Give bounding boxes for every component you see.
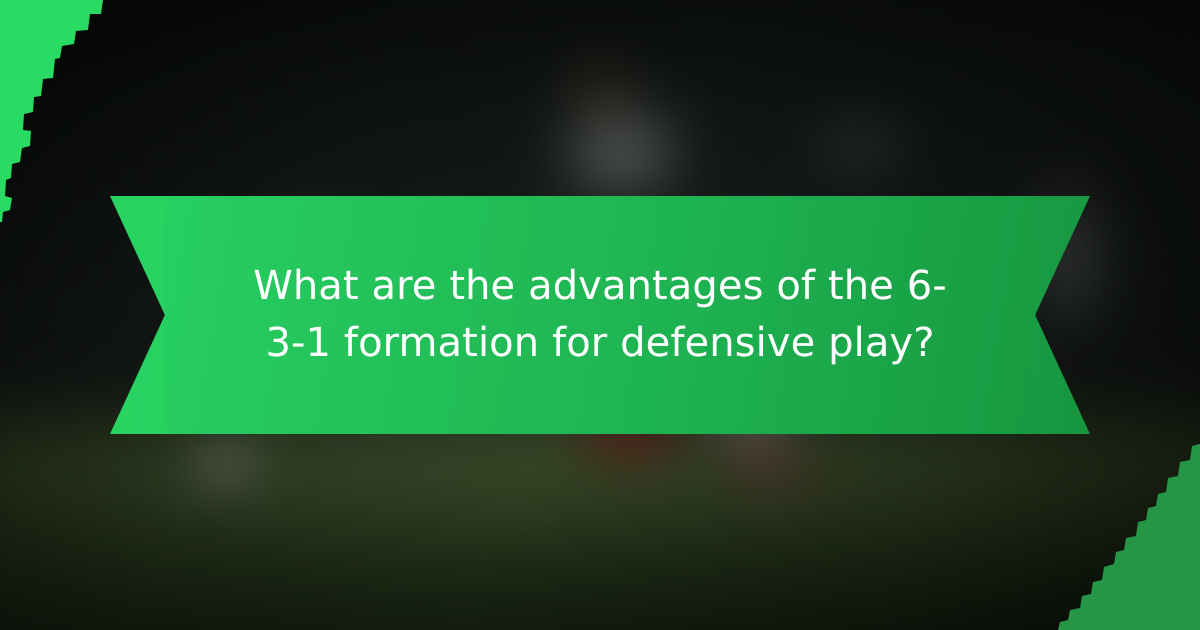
- share-card: What are the advantages of the 6-3-1 for…: [0, 0, 1200, 630]
- question-text: What are the advantages of the 6-3-1 for…: [250, 258, 950, 372]
- question-banner: What are the advantages of the 6-3-1 for…: [110, 196, 1090, 434]
